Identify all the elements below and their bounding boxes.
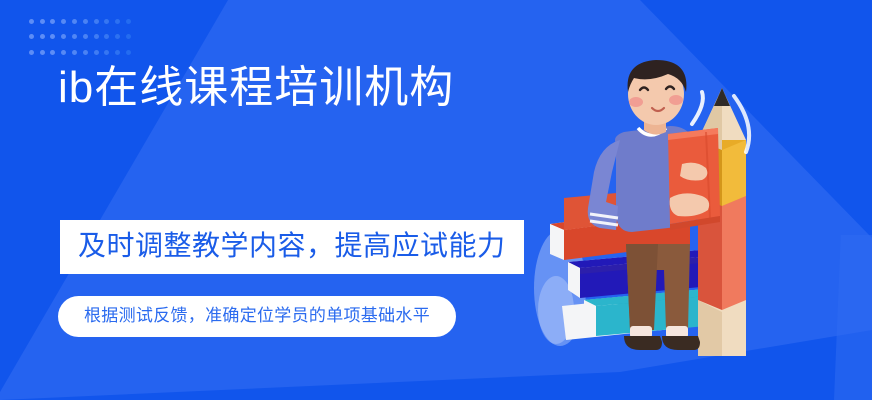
promo-banner: ib在线课程培训机构 及时调整教学内容，提高应试能力 根据测试反馈，准确定位学员… [0, 0, 872, 400]
headline-block: ib在线课程培训机构 [58, 58, 528, 118]
dot-grid-decoration [26, 14, 134, 60]
subtitle-text: 及时调整教学内容，提高应试能力 [78, 227, 506, 265]
tagline-text: 根据测试反馈，准确定位学员的单项基础水平 [84, 305, 430, 327]
page-title: ib在线课程培训机构 [58, 58, 528, 118]
tagline-pill: 根据测试反馈，准确定位学员的单项基础水平 [58, 296, 456, 337]
subtitle-panel: 及时调整教学内容，提高应试能力 [60, 220, 524, 274]
illustration-student-books-pencil [520, 48, 872, 400]
